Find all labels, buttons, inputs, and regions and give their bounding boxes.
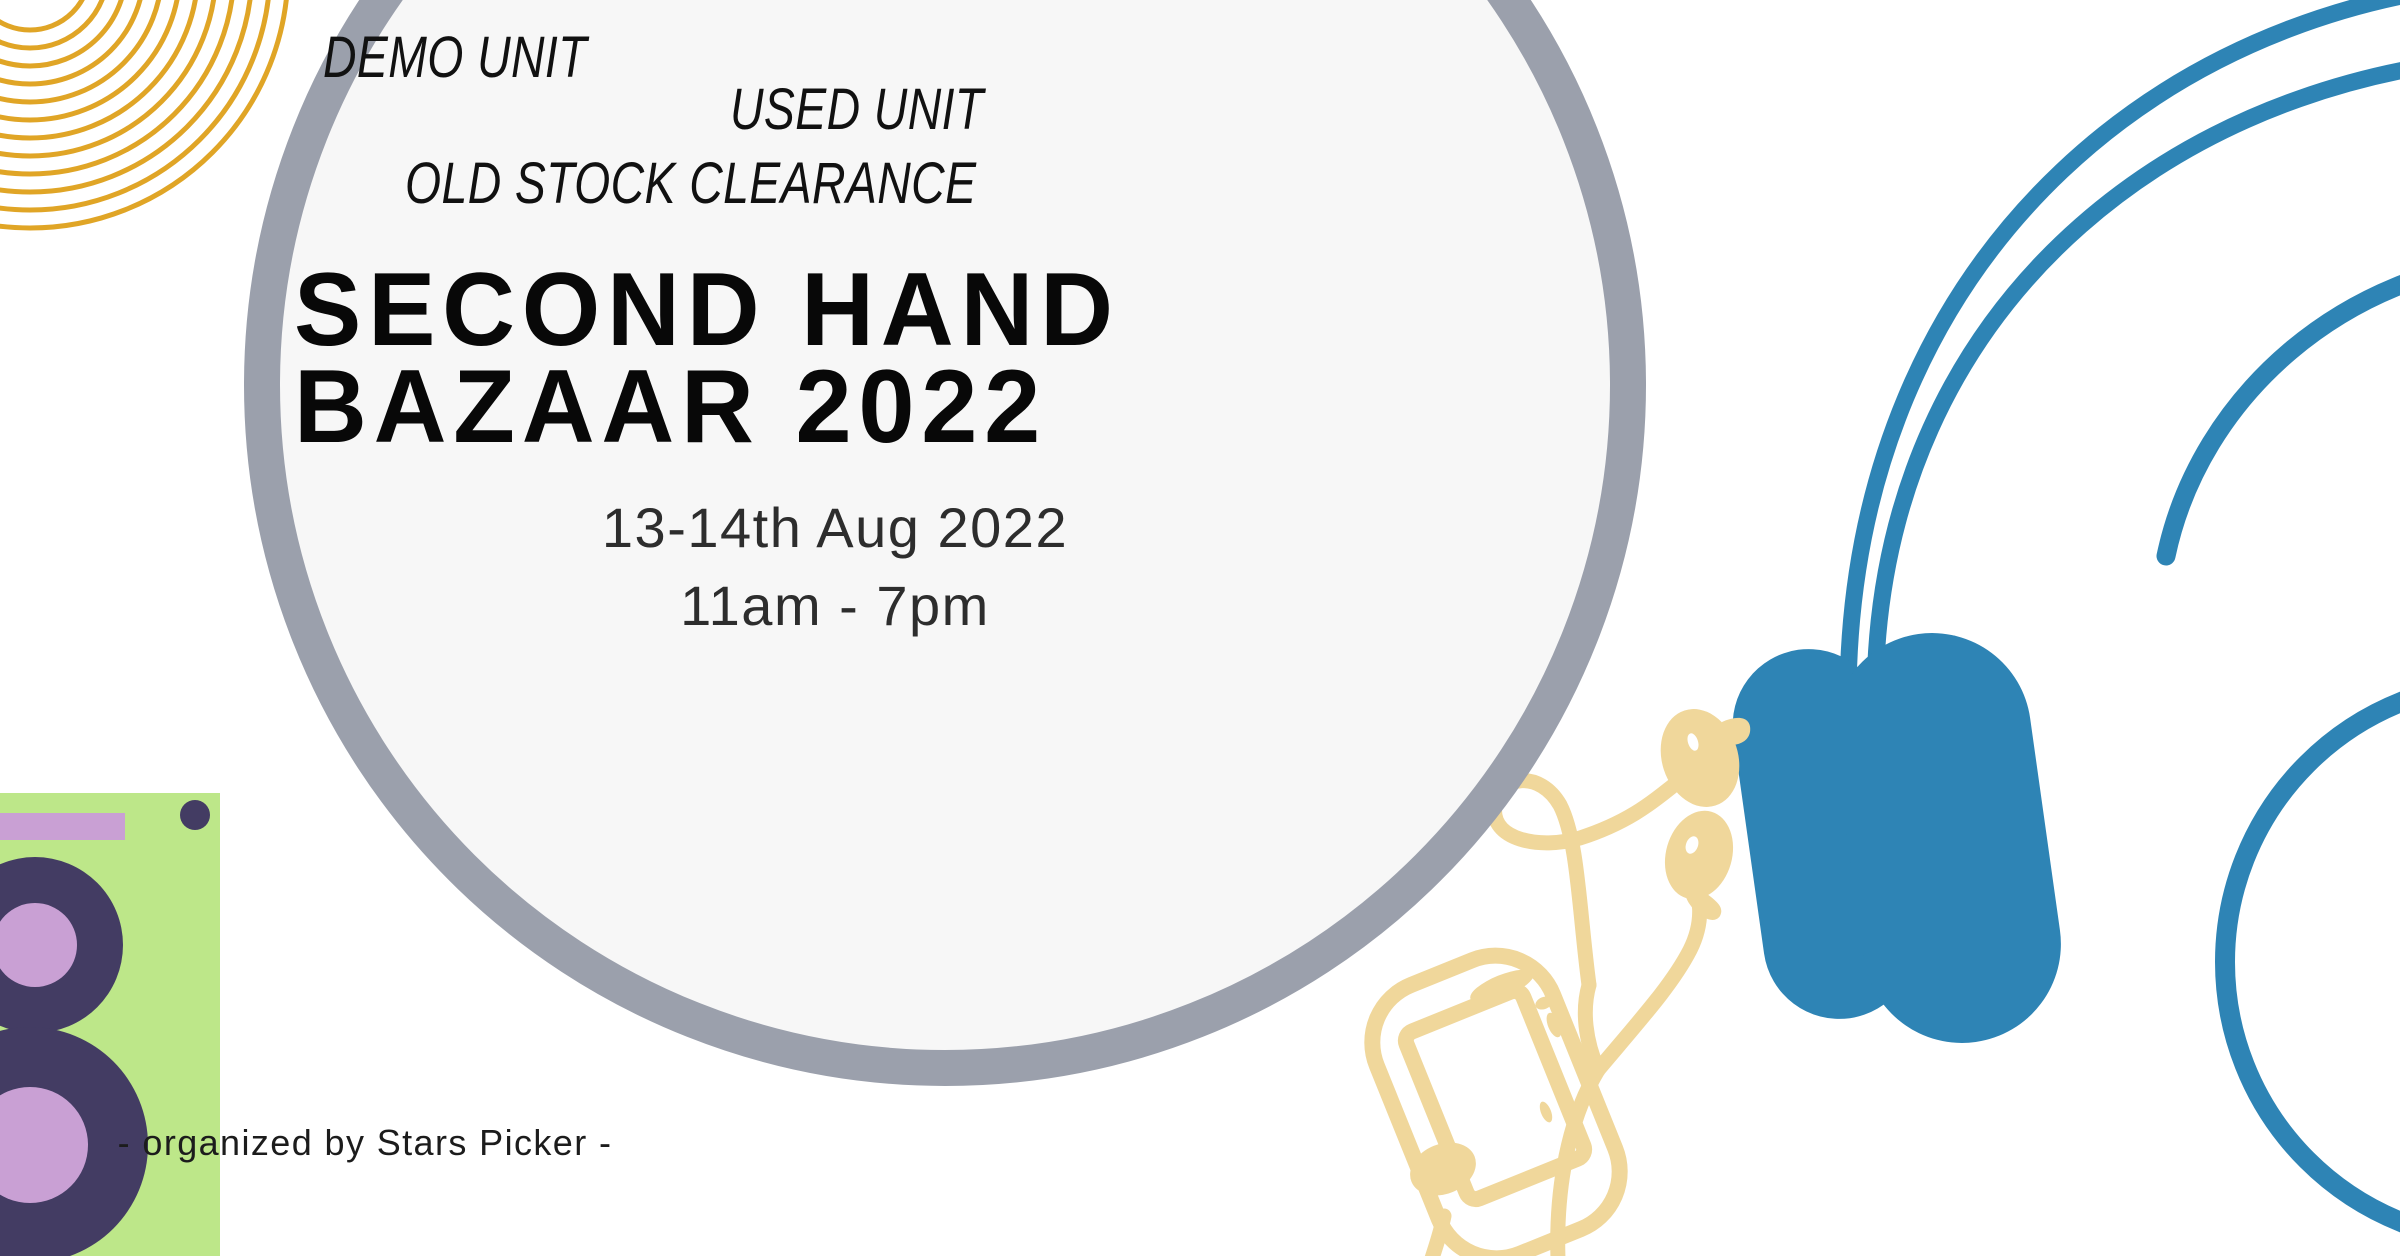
headline-line-2: BAZAAR 2022 (294, 355, 1047, 459)
kicker-old-stock-clearance: OLD STOCK CLEARANCE (405, 150, 976, 217)
headline-line-1: SECOND HAND (294, 258, 1120, 362)
event-hours: 11am - 7pm (135, 578, 1535, 634)
kicker-used-unit: USED UNIT (730, 76, 984, 143)
poster-canvas: DEMO UNIT USED UNIT OLD STOCK CLEARANCE … (0, 0, 2400, 1256)
kicker-demo-unit: DEMO UNIT (323, 24, 587, 91)
event-dates: 13-14th Aug 2022 (135, 500, 1535, 556)
organizer-credit: - organized by Stars Picker - (0, 1122, 730, 1164)
headline-text-block: DEMO UNIT USED UNIT OLD STOCK CLEARANCE … (245, 0, 1645, 1100)
